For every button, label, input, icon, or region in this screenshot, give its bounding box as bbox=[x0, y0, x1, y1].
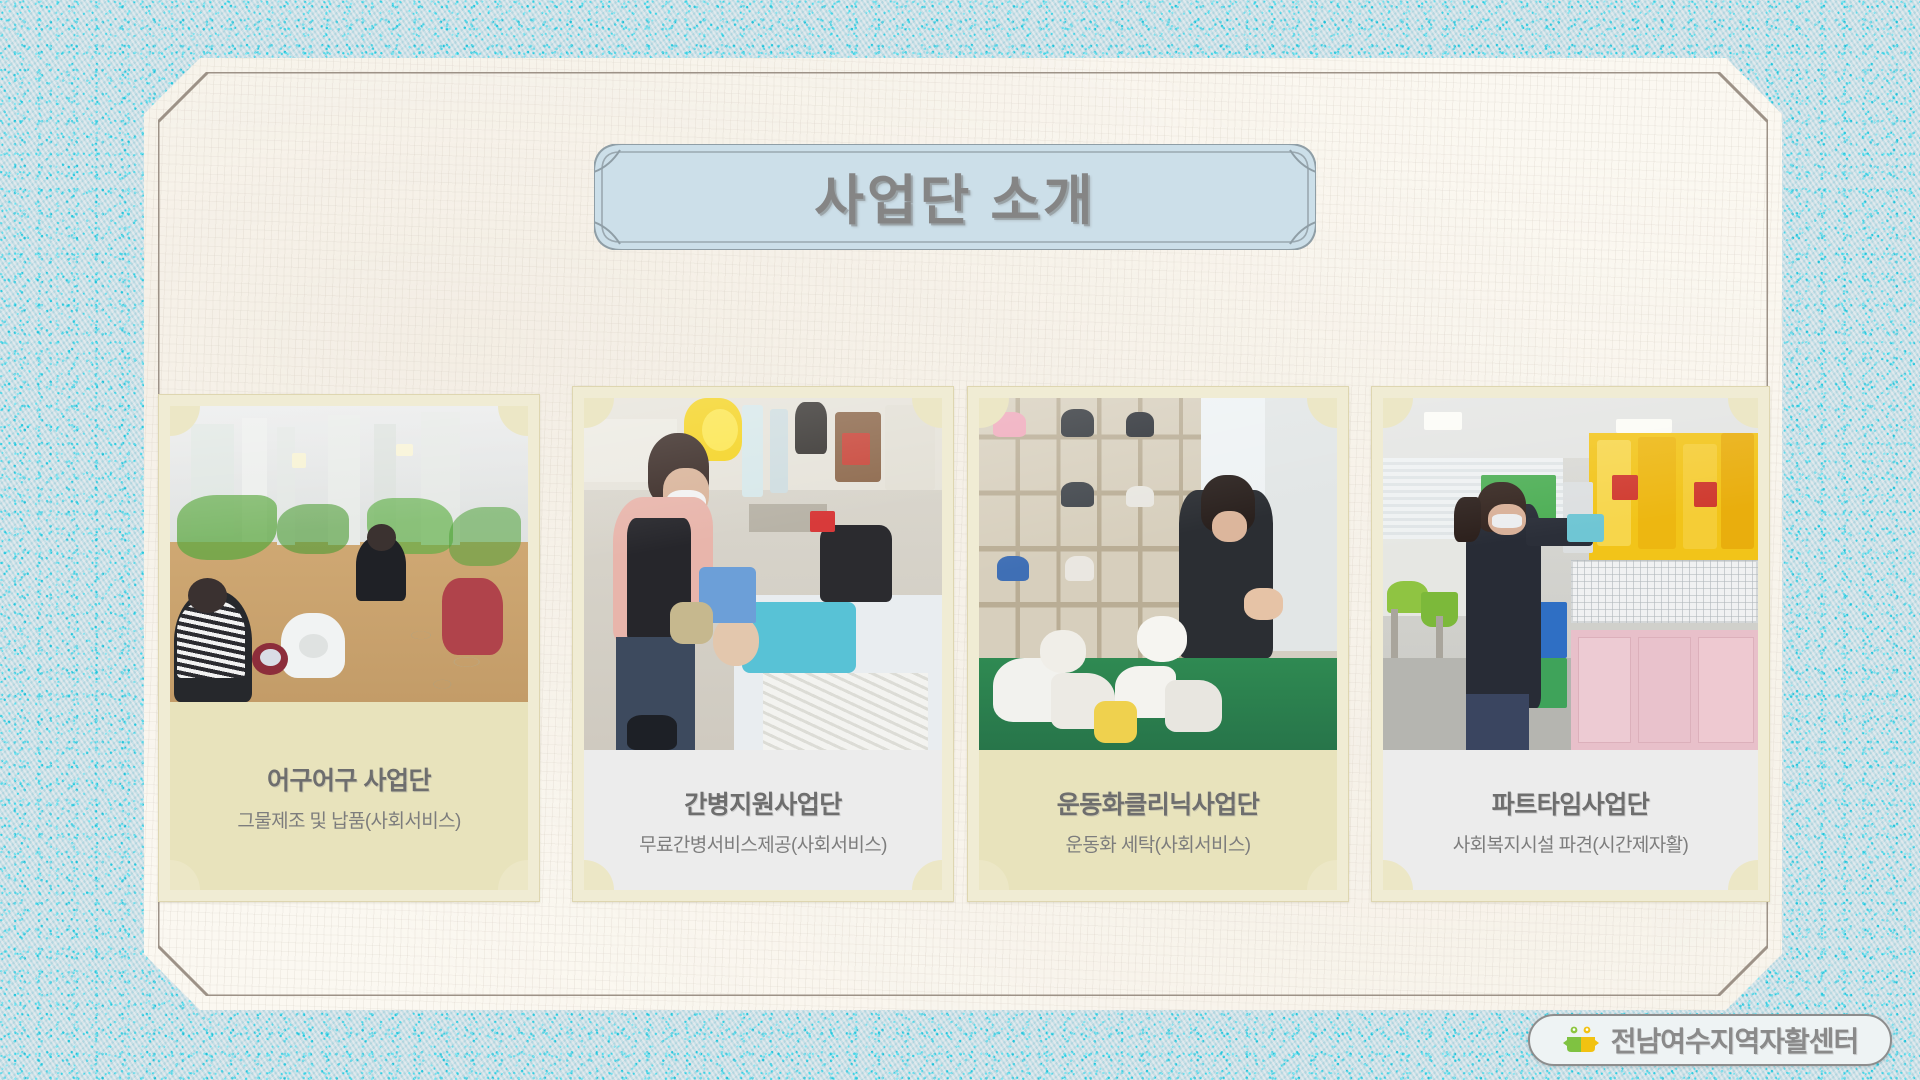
photo-part-time-store-work bbox=[1383, 398, 1758, 750]
card-title: 파트타임사업단 bbox=[1492, 785, 1650, 821]
card-business-unit-3[interactable]: 운동화클리닉사업단 운동화 세탁(사회서비스) bbox=[967, 386, 1349, 902]
card-title: 어구어구 사업단 bbox=[267, 761, 431, 797]
photo-sneaker-cleaning-clinic bbox=[979, 398, 1337, 750]
photo-fishing-gear-workshop bbox=[170, 406, 528, 702]
card-title: 간병지원사업단 bbox=[684, 785, 842, 821]
page-title: 사업단 소개 bbox=[594, 144, 1316, 250]
caption-business-unit-1: 어구어구 사업단 그물제조 및 납품(사회서비스) bbox=[170, 702, 528, 890]
card-description: 그물제조 및 납품(사회서비스) bbox=[237, 806, 460, 833]
card-business-unit-2[interactable]: 간병지원사업단 무료간병서비스제공(사회서비스) bbox=[572, 386, 954, 902]
card-description: 운동화 세탁(사회서비스) bbox=[1066, 830, 1251, 857]
caption-business-unit-2: 간병지원사업단 무료간병서비스제공(사회서비스) bbox=[584, 750, 942, 890]
title-banner: 사업단 소개 bbox=[594, 144, 1316, 250]
organization-badge[interactable]: 전남여수지역자활센터 bbox=[1528, 1014, 1892, 1066]
photo-nursing-care-support bbox=[584, 398, 942, 750]
card-description: 사회복지시설 파견(시간제자활) bbox=[1453, 830, 1689, 857]
business-unit-card-row: 어구어구 사업단 그물제조 및 납품(사회서비스) bbox=[158, 394, 1770, 914]
card-business-unit-1[interactable]: 어구어구 사업단 그물제조 및 납품(사회서비스) bbox=[158, 394, 540, 902]
caption-business-unit-4: 파트타임사업단 사회복지시설 파견(시간제자활) bbox=[1383, 750, 1758, 890]
organization-name: 전남여수지역자활센터 bbox=[1611, 1020, 1859, 1060]
card-title: 운동화클리닉사업단 bbox=[1057, 785, 1260, 821]
caption-business-unit-3: 운동화클리닉사업단 운동화 세탁(사회서비스) bbox=[979, 750, 1337, 890]
frog-mascot-icon bbox=[1562, 1025, 1600, 1055]
card-business-unit-4[interactable]: 파트타임사업단 사회복지시설 파견(시간제자활) bbox=[1371, 386, 1770, 902]
card-description: 무료간병서비스제공(사회서비스) bbox=[639, 830, 887, 857]
